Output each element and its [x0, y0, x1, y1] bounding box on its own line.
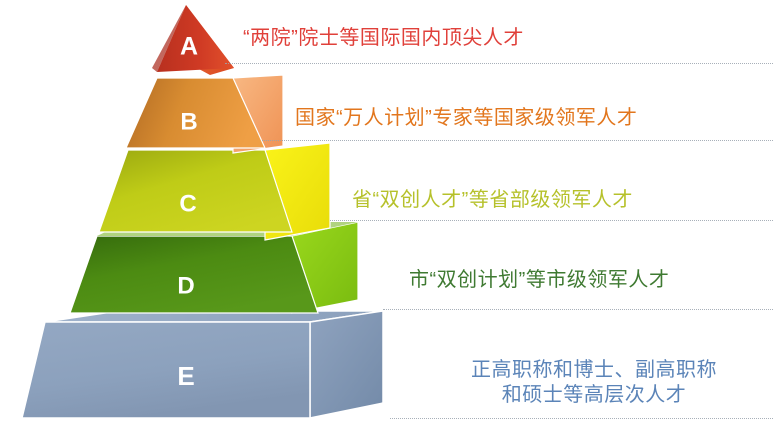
pyramid-diagram: E D C B A	[0, 0, 776, 432]
pyramid-tier-B[interactable]: B	[126, 75, 283, 153]
tier-label-c: 省“双创人才”等省部级领军人才	[352, 188, 633, 213]
leader-line-b	[262, 140, 773, 141]
leader-line-e	[390, 418, 773, 419]
pyramid-tier-D[interactable]: D	[70, 222, 358, 313]
leader-line-a	[225, 63, 773, 64]
tier-D-letter: D	[177, 272, 194, 299]
tier-label-e-line1: 正高职称和博士、副高职称	[444, 358, 744, 383]
leader-line-d	[383, 309, 773, 310]
tier-label-e-line2: 和硕士等高层次人才	[444, 383, 744, 408]
tier-E-front-face	[22, 322, 310, 418]
pyramid-tier-E[interactable]: E	[22, 311, 383, 418]
tier-label-e: 正高职称和博士、副高职称 和硕士等高层次人才	[444, 358, 744, 408]
tier-E-right-face	[310, 311, 383, 418]
pyramid-tier-C[interactable]: C	[99, 143, 330, 240]
tier-E-letter: E	[177, 361, 194, 391]
leader-line-c	[330, 220, 773, 221]
tier-A-letter: A	[180, 33, 198, 61]
tier-label-d: 市“双创计划”等市级领军人才	[409, 268, 669, 293]
tier-B-letter: B	[180, 108, 197, 135]
tier-label-a: “两院”院士等国际国内顶尖人才	[243, 26, 524, 51]
tier-C-letter: C	[179, 190, 196, 217]
pyramid-tier-A[interactable]: A	[152, 5, 234, 75]
tier-label-b: 国家“万人计划”专家等国家级领军人才	[295, 106, 637, 131]
